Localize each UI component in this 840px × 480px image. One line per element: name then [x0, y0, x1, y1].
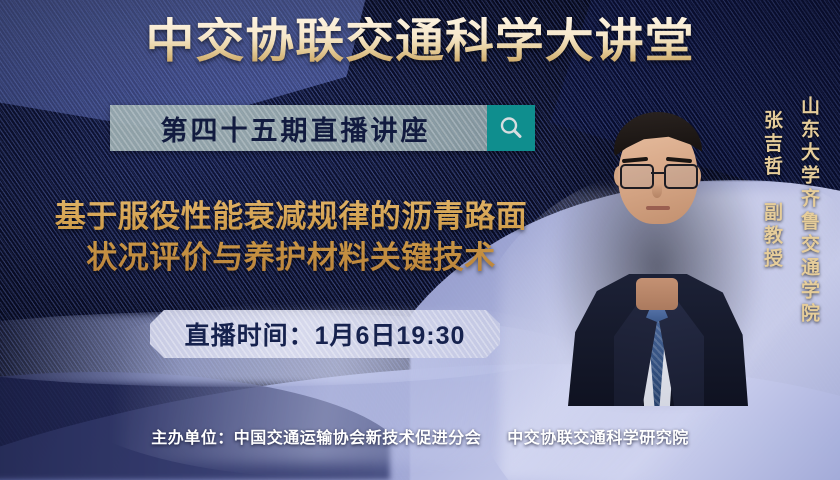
speaker-portrait [566, 96, 748, 406]
search-button[interactable] [487, 105, 535, 151]
episode-bar: 第四十五期直播讲座 [110, 105, 535, 151]
broadcast-time-badge: 直播时间：1月6日19:30 [150, 310, 500, 358]
glasses-bridge [651, 172, 665, 174]
footer: 主办单位：中国交通运输协会新技术促进分会中交协联交通科学研究院 [0, 424, 840, 448]
lecture-topic-line-2: 状况评价与养护材料关键技术 [18, 237, 564, 278]
lecture-topic-line-1: 基于服役性能衰减规律的沥青路面 [18, 196, 564, 237]
lecture-topic: 基于服役性能衰减规律的沥青路面 状况评价与养护材料关键技术 [18, 196, 564, 278]
speaker-info: 张吉哲 副教授 山东大学齐鲁交通学院 [758, 96, 822, 326]
glasses-lens-left [620, 164, 654, 189]
portrait-nose [652, 184, 662, 198]
glasses-lens-right [664, 164, 698, 189]
portrait-neck [636, 278, 678, 310]
footer-organizer: 主办单位：中国交通运输协会新技术促进分会 [151, 430, 481, 447]
footer-institute: 中交协联交通科学研究院 [507, 430, 689, 447]
broadcast-time-label: 直播时间：1月6日19:30 [185, 316, 466, 352]
search-icon [498, 115, 524, 141]
portrait-glasses [618, 164, 698, 186]
speaker-name: 张吉哲 副教授 [758, 110, 785, 271]
page-title: 中交协联交通科学大讲堂 [0, 17, 840, 64]
episode-label: 第四十五期直播讲座 [110, 105, 487, 151]
speaker-organization: 山东大学齐鲁交通学院 [795, 96, 822, 326]
live-lecture-poster: 中交协联交通科学大讲堂 第四十五期直播讲座 基于服役性能衰减规律的沥青路面 状况… [0, 0, 840, 480]
portrait-mouth [646, 206, 670, 210]
